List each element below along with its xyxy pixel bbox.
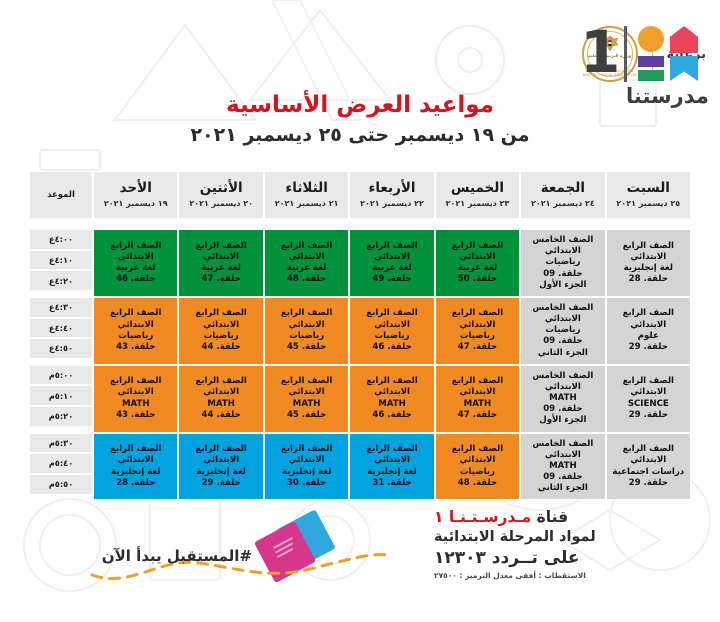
day-header-4: الثلاثاء٢١ ديسمبر ٢٠٢١ bbox=[265, 172, 348, 218]
cell-grade: الصف الرابع الابتدائي bbox=[268, 241, 345, 263]
cell-subject: لغة إنجليزية bbox=[182, 467, 259, 478]
schedule-cell: الصف الرابع الابتدائيMATHحلقة. 47 bbox=[436, 366, 519, 432]
schedule-cell: الصف الخامس الابتدائيMATHحلقة. 09الجزء ا… bbox=[521, 366, 604, 432]
day-date: ٢٥ ديسمبر ٢٠٢١ bbox=[609, 199, 688, 209]
cell-grade: الصف الرابع الابتدائي bbox=[353, 444, 430, 466]
cell-episode: حلقة. 09 bbox=[524, 404, 601, 415]
cell-grade: الصف الرابع الابتدائي bbox=[97, 444, 174, 466]
schedule-cell: الصف الخامس الابتدائيرياضياتحلقة. 09الجز… bbox=[521, 230, 604, 296]
schedule-cell: الصف الرابع الابتدائيرياضياتحلقة. 46 bbox=[350, 298, 433, 364]
red-house-icon bbox=[670, 26, 698, 53]
cell-subject: دراسات اجتماعية bbox=[610, 467, 687, 478]
time-slot: ٥:٤٠م bbox=[30, 454, 92, 473]
cell-grade: الصف الخامس الابتدائي bbox=[524, 439, 601, 461]
schedule-cell: الصف الرابع الابتدائيMATHحلقة. 45 bbox=[265, 366, 348, 432]
cell-grade: الصف الرابع الابتدائي bbox=[268, 444, 345, 466]
cell-episode: حلقة. 50 bbox=[439, 274, 516, 285]
day-date: ٢٢ ديسمبر ٢٠٢١ bbox=[352, 199, 431, 209]
cell-episode: حلقة. 29 bbox=[610, 478, 687, 489]
cell-episode: حلقة. 43 bbox=[97, 410, 174, 421]
schedule-cell: الصف الرابع الابتدائيلغة عربيةحلقة. 48 bbox=[265, 230, 348, 296]
time-slot: ٥:١٠م bbox=[30, 386, 92, 405]
cell-subject: MATH bbox=[524, 393, 601, 404]
schedule-table: السبت٢٥ ديسمبر ٢٠٢١الجمعة٢٤ ديسمبر ٢٠٢١ا… bbox=[28, 170, 692, 501]
cell-episode: حلقة. 48 bbox=[268, 274, 345, 285]
time-slot: ٥:٥٠م bbox=[30, 475, 92, 494]
cell-episode: حلقة. 31 bbox=[353, 478, 430, 489]
time-slot: ٥:٣٠م bbox=[30, 434, 92, 453]
schedule-cell: الصف الرابع الابتدائيلغة عربيةحلقة. 49 bbox=[350, 230, 433, 296]
table-header-row: السبت٢٥ ديسمبر ٢٠٢١الجمعة٢٤ ديسمبر ٢٠٢١ا… bbox=[30, 172, 690, 218]
cell-grade: الصف الرابع الابتدائي bbox=[439, 376, 516, 398]
cell-grade: الصف الرابع الابتدائي bbox=[439, 444, 516, 466]
cell-subject: علوم bbox=[610, 331, 687, 342]
cell-episode: حلقة. 45 bbox=[268, 342, 345, 353]
cell-subject: لغة إنجليزية bbox=[610, 263, 687, 274]
page-footer: قناة مـدرسـتـنـا ١ لمواد المرحلة الابتدا… bbox=[0, 507, 720, 622]
time-slot: ٥:٢٠م bbox=[30, 407, 92, 426]
logo-divider-bar bbox=[624, 26, 627, 82]
cell-grade: الصف الرابع الابتدائي bbox=[97, 241, 174, 263]
time-slot-group: ٤:٠٠ع٤:١٠ع٤:٢٠ع bbox=[30, 230, 92, 296]
cell-grade: الصف الرابع الابتدائي bbox=[97, 376, 174, 398]
cell-episode: حلقة. 46 bbox=[97, 274, 174, 285]
day-header-1: الجمعة٢٤ ديسمبر ٢٠٢١ bbox=[521, 172, 604, 218]
schedule-cell: الصف الرابع الابتدائيلغة إنجليزيةحلقة. 3… bbox=[350, 434, 433, 500]
time-slot: ٥:٠٠م bbox=[30, 366, 92, 385]
cell-subject: لغة إنجليزية bbox=[268, 467, 345, 478]
cell-episode: حلقة. 30 bbox=[268, 478, 345, 489]
page-subtitle: من ١٩ ديسمبر حتى ٢٥ ديسمبر ٢٠٢١ bbox=[0, 124, 720, 147]
cell-subject: MATH bbox=[439, 399, 516, 410]
time-slot-group: ٥:٠٠م٥:١٠م٥:٢٠م bbox=[30, 366, 92, 432]
cell-episode: حلقة. 45 bbox=[268, 410, 345, 421]
schedule-cell: الصف الرابع الابتدائيعلومحلقة. 29 bbox=[607, 298, 690, 364]
table-row: الصف الرابع الابتدائيلغة إنجليزيةحلقة. 2… bbox=[30, 230, 690, 296]
channel-line-name: مـدرسـتـنـا ١ bbox=[434, 508, 531, 526]
day-header-2: الخميس٢٣ ديسمبر ٢٠٢١ bbox=[436, 172, 519, 218]
cell-grade: الصف الرابع الابتدائي bbox=[353, 376, 430, 398]
channel-number: 1 bbox=[580, 24, 620, 80]
cell-grade: الصف الرابع الابتدائي bbox=[182, 376, 259, 398]
cell-episode: حلقة. 48 bbox=[439, 478, 516, 489]
cell-subject: MATH bbox=[97, 399, 174, 410]
cell-episode: حلقة. 43 bbox=[97, 342, 174, 353]
cell-grade: الصف الرابع الابتدائي bbox=[182, 444, 259, 466]
channel-frequency-block: قناة مـدرسـتـنـا ١ لمواد المرحلة الابتدا… bbox=[420, 507, 720, 580]
cell-episode: حلقة. 46 bbox=[353, 342, 430, 353]
page-title: مواعيد العرض الأساسية bbox=[0, 92, 720, 120]
time-slot: ٤:٥٠ع bbox=[30, 339, 92, 358]
table-row: الصف الرابع الابتدائيدراسات اجتماعيةحلقة… bbox=[30, 434, 690, 500]
purple-bar-icon bbox=[638, 56, 664, 67]
time-column-header: الموعد bbox=[30, 172, 92, 218]
day-date: ١٩ ديسمبر ٢٠٢١ bbox=[96, 199, 175, 209]
cell-subject: رياضيات bbox=[353, 331, 430, 342]
cell-subject: لغة عربية bbox=[268, 263, 345, 274]
green-bar-icon bbox=[638, 70, 664, 81]
schedule-cell: الصف الرابع الابتدائيرياضياتحلقة. 48 bbox=[436, 434, 519, 500]
table-row: الصف الرابع الابتدائيSCIENCEحلقة. 29الصف… bbox=[30, 366, 690, 432]
schedule-cell: الصف الرابع الابتدائيلغة عربيةحلقة. 47 bbox=[179, 230, 262, 296]
cell-grade: الصف الرابع الابتدائي bbox=[182, 241, 259, 263]
cell-episode: حلقة. 28 bbox=[610, 274, 687, 285]
cell-subject: رياضيات bbox=[268, 331, 345, 342]
cell-grade: الصف الرابع الابتدائي bbox=[610, 241, 687, 263]
page-header: وزارة التربية والتعليم MINISTRY OF EDUCA… bbox=[0, 0, 720, 170]
cell-grade: الصف الرابع الابتدائي bbox=[268, 308, 345, 330]
cell-subject: رياضيات bbox=[182, 331, 259, 342]
schedule-cell: الصف الخامس الابتدائيMATHحلقة. 09الجزء ا… bbox=[521, 434, 604, 500]
cell-subject: MATH bbox=[524, 461, 601, 472]
tech-details-line: الاستقطاب : أفقى معدل الترميز : ٢٧٥٠٠ bbox=[434, 571, 720, 580]
cell-episode: حلقة. 44 bbox=[182, 342, 259, 353]
cell-grade: الصف الرابع الابتدائي bbox=[268, 376, 345, 398]
schedule-cell: الصف الرابع الابتدائيMATHحلقة. 46 bbox=[350, 366, 433, 432]
schedule-cell: الصف الرابع الابتدائيMATHحلقة. 43 bbox=[94, 366, 177, 432]
schedule-cell: الصف الرابع الابتدائيلغة عربيةحلقة. 50 bbox=[436, 230, 519, 296]
cell-episode: حلقة. 28 bbox=[97, 478, 174, 489]
cell-subject: MATH bbox=[182, 399, 259, 410]
day-name: الجمعة bbox=[523, 181, 602, 197]
table-row: الصف الرابع الابتدائيعلومحلقة. 29الصف ال… bbox=[30, 298, 690, 364]
day-date: ٢٠ ديسمبر ٢٠٢١ bbox=[181, 199, 260, 209]
cell-grade: الصف الرابع الابتدائي bbox=[610, 308, 687, 330]
stage-line: لمواد المرحلة الابتدائية bbox=[434, 528, 720, 548]
time-slot: ٤:٤٠ع bbox=[30, 319, 92, 338]
cell-episode: حلقة. 47 bbox=[182, 274, 259, 285]
title-block: مواعيد العرض الأساسية من ١٩ ديسمبر حتى ٢… bbox=[0, 92, 720, 146]
cell-subject: رياضيات bbox=[97, 331, 174, 342]
channel-line: قناة مـدرسـتـنـا ١ bbox=[434, 507, 720, 527]
schedule-cell: الصف الرابع الابتدائيرياضياتحلقة. 44 bbox=[179, 298, 262, 364]
cell-part: الجزء الأول bbox=[524, 280, 601, 291]
cell-grade: الصف الرابع الابتدائي bbox=[439, 241, 516, 263]
schedule-cell: الصف الرابع الابتدائيMATHحلقة. 44 bbox=[179, 366, 262, 432]
schedule-cell: الصف الرابع الابتدائيرياضياتحلقة. 47 bbox=[436, 298, 519, 364]
blue-chevron-icon bbox=[670, 56, 698, 81]
cell-episode: حلقة. 09 bbox=[524, 472, 601, 483]
day-name: الأحد bbox=[96, 181, 175, 197]
day-header-6: الأحد١٩ ديسمبر ٢٠٢١ bbox=[94, 172, 177, 218]
cell-subject: لغة عربية bbox=[97, 263, 174, 274]
time-slot: ٤:٣٠ع bbox=[30, 298, 92, 317]
cell-episode: حلقة. 46 bbox=[353, 410, 430, 421]
table-spacer-row bbox=[30, 220, 690, 228]
cell-grade: الصف الرابع الابتدائي bbox=[610, 376, 687, 398]
cell-grade: الصف الرابع الابتدائي bbox=[353, 308, 430, 330]
frequency-line: على تــردد ١٢٣٠٣ bbox=[434, 547, 720, 569]
schedule-cell: الصف الرابع الابتدائيSCIENCEحلقة. 29 bbox=[607, 366, 690, 432]
day-name: الأربعاء bbox=[352, 181, 431, 197]
schedule-cell: الصف الرابع الابتدائيرياضياتحلقة. 45 bbox=[265, 298, 348, 364]
schedule-table-wrap: السبت٢٥ ديسمبر ٢٠٢١الجمعة٢٤ ديسمبر ٢٠٢١ا… bbox=[14, 170, 706, 501]
cell-grade: الصف الخامس الابتدائي bbox=[524, 303, 601, 325]
cell-episode: حلقة. 09 bbox=[524, 269, 601, 280]
cell-part: الجزء الثاني bbox=[524, 348, 601, 359]
time-slot: ٤:٢٠ع bbox=[30, 271, 92, 290]
cell-subject: رياضيات bbox=[439, 331, 516, 342]
cell-episode: حلقة. 49 bbox=[353, 274, 430, 285]
orange-circle-icon bbox=[638, 26, 664, 52]
cell-episode: حلقة. 44 bbox=[182, 410, 259, 421]
schedule-cell: الصف الرابع الابتدائيدراسات اجتماعيةحلقة… bbox=[607, 434, 690, 500]
cell-grade: الصف الخامس الابتدائي bbox=[524, 371, 601, 393]
cell-subject: MATH bbox=[268, 399, 345, 410]
cell-subject: رياضيات bbox=[439, 467, 516, 478]
time-slot-group: ٤:٣٠ع٤:٤٠ع٤:٥٠ع bbox=[30, 298, 92, 364]
cell-grade: الصف الرابع الابتدائي bbox=[182, 308, 259, 330]
logo-shapes-group bbox=[638, 26, 700, 82]
day-date: ٢٤ ديسمبر ٢٠٢١ bbox=[523, 199, 602, 209]
cell-subject: MATH bbox=[353, 399, 430, 410]
cell-subject: لغة عربية bbox=[439, 263, 516, 274]
channel-line-prefix: قناة bbox=[531, 508, 568, 526]
schedule-infographic: وزارة التربية والتعليم MINISTRY OF EDUCA… bbox=[0, 0, 720, 606]
schedule-cell: الصف الرابع الابتدائيرياضياتحلقة. 43 bbox=[94, 298, 177, 364]
cell-subject: رياضيات bbox=[524, 325, 601, 336]
day-name: الأثنين bbox=[181, 181, 260, 197]
cell-subject: لغة عربية bbox=[182, 263, 259, 274]
day-date: ٢١ ديسمبر ٢٠٢١ bbox=[267, 199, 346, 209]
cell-subject: SCIENCE bbox=[610, 399, 687, 410]
hashtag-text: #المستقبل يبدأ الآن bbox=[102, 547, 252, 565]
cell-episode: حلقة. 47 bbox=[439, 342, 516, 353]
time-slot: ٤:١٠ع bbox=[30, 251, 92, 270]
day-header-3: الأربعاء٢٢ ديسمبر ٢٠٢١ bbox=[350, 172, 433, 218]
cell-episode: حلقة. 29 bbox=[610, 342, 687, 353]
cell-part: الجزء الأول bbox=[524, 415, 601, 426]
cell-grade: الصف الرابع الابتدائي bbox=[353, 241, 430, 263]
cell-part: الجزء الثاني bbox=[524, 483, 601, 494]
cell-episode: حلقة. 29 bbox=[182, 478, 259, 489]
cell-subject: لغة إنجليزية bbox=[97, 467, 174, 478]
cell-episode: حلقة. 09 bbox=[524, 336, 601, 347]
schedule-cell: الصف الخامس الابتدائيرياضياتحلقة. 09الجز… bbox=[521, 298, 604, 364]
day-date: ٢٣ ديسمبر ٢٠٢١ bbox=[438, 199, 517, 209]
schedule-cell: الصف الرابع الابتدائيلغة إنجليزيةحلقة. 3… bbox=[265, 434, 348, 500]
cell-grade: الصف الرابع الابتدائي bbox=[439, 308, 516, 330]
day-name: الثلاثاء bbox=[267, 181, 346, 197]
day-name: السبت bbox=[609, 181, 688, 197]
schedule-cell: الصف الرابع الابتدائيلغة عربيةحلقة. 46 bbox=[94, 230, 177, 296]
cell-grade: الصف الرابع الابتدائي bbox=[610, 444, 687, 466]
cell-episode: حلقة. 47 bbox=[439, 410, 516, 421]
cell-subject: رياضيات bbox=[524, 257, 601, 268]
time-slot: ٤:٠٠ع bbox=[30, 230, 92, 249]
schedule-cell: الصف الرابع الابتدائيلغة إنجليزيةحلقة. 2… bbox=[94, 434, 177, 500]
day-name: الخميس bbox=[438, 181, 517, 197]
day-header-0: السبت٢٥ ديسمبر ٢٠٢١ bbox=[607, 172, 690, 218]
time-slot-group: ٥:٣٠م٥:٤٠م٥:٥٠م bbox=[30, 434, 92, 500]
day-header-5: الأثنين٢٠ ديسمبر ٢٠٢١ bbox=[179, 172, 262, 218]
schedule-cell: الصف الرابع الابتدائيلغة إنجليزيةحلقة. 2… bbox=[179, 434, 262, 500]
cell-grade: الصف الخامس الابتدائي bbox=[524, 235, 601, 257]
cell-episode: حلقة. 29 bbox=[610, 410, 687, 421]
schedule-cell: الصف الرابع الابتدائيلغة إنجليزيةحلقة. 2… bbox=[607, 230, 690, 296]
cell-grade: الصف الرابع الابتدائي bbox=[97, 308, 174, 330]
cell-subject: لغة إنجليزية bbox=[353, 467, 430, 478]
cell-subject: لغة عربية bbox=[353, 263, 430, 274]
